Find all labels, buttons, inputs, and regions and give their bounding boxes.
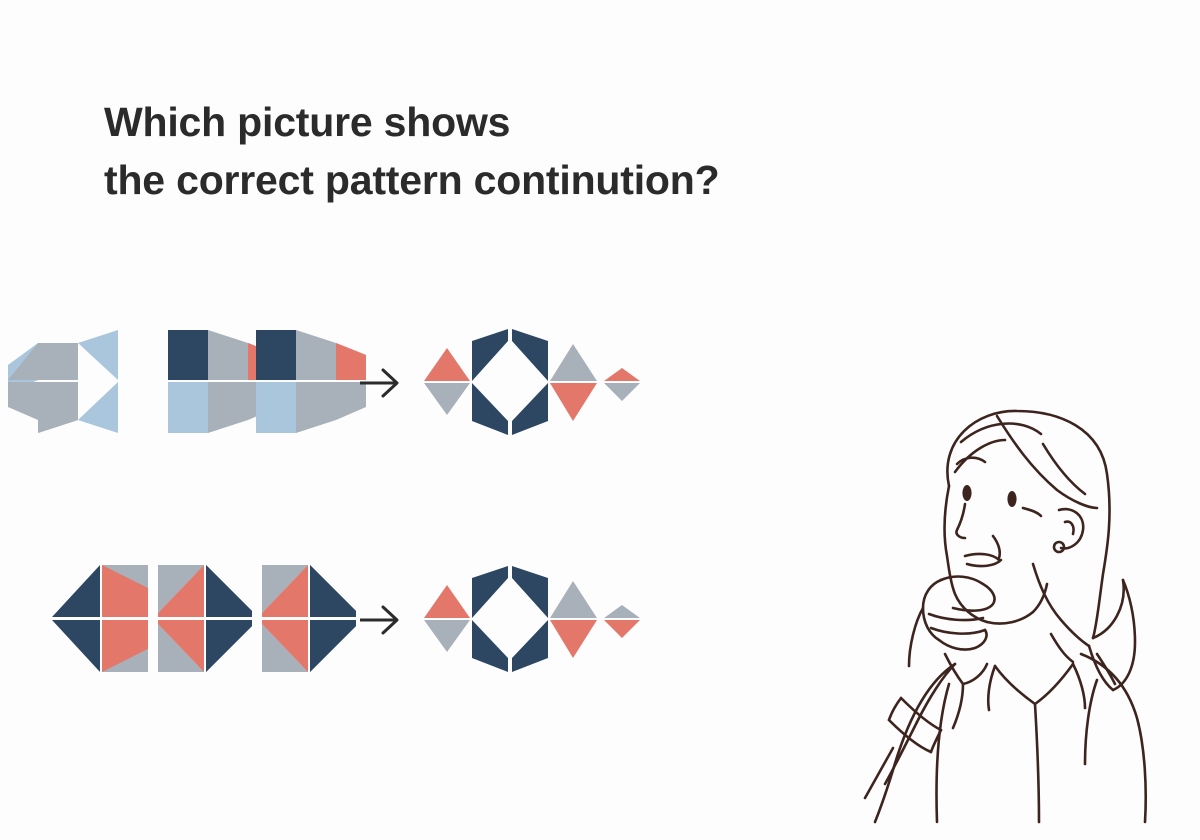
thinking-woman-line-art [845,398,1200,828]
row2-small-diamond[interactable] [604,605,640,638]
pattern-row-2 [0,552,700,692]
row2-arrow-icon [360,607,397,633]
row1-left-diamond[interactable] [424,348,470,415]
row2-right-diamond[interactable] [550,581,597,658]
row1-right-diamond[interactable] [550,344,597,421]
row2-left-group[interactable] [52,565,356,672]
row2-triangle-motif-2[interactable] [158,565,252,672]
row2-center-hex[interactable] [472,566,548,672]
puzzle-canvas: Which picture shows the correct pattern … [0,0,1200,840]
page-title-line-1: Which picture shows [104,93,1004,151]
row1-center-hex[interactable] [472,329,548,435]
row1-star-motif-1[interactable] [8,330,118,433]
row1-star-motif-3[interactable] [256,330,366,433]
page-title-line-2: the correct pattern continution? [104,151,1004,209]
row2-right-group[interactable] [424,566,640,672]
row2-triangle-motif-3[interactable] [262,565,356,672]
pattern-row-1-graphic [0,315,700,455]
row2-left-diamond[interactable] [424,585,470,652]
thinking-woman-illustration [845,398,1200,828]
pattern-row-1 [0,315,700,455]
row2-triangle-motif-1-detail [102,565,148,672]
page-title: Which picture shows the correct pattern … [104,93,1004,209]
pattern-row-2-graphic [0,552,700,692]
row1-left-group[interactable] [8,330,366,433]
